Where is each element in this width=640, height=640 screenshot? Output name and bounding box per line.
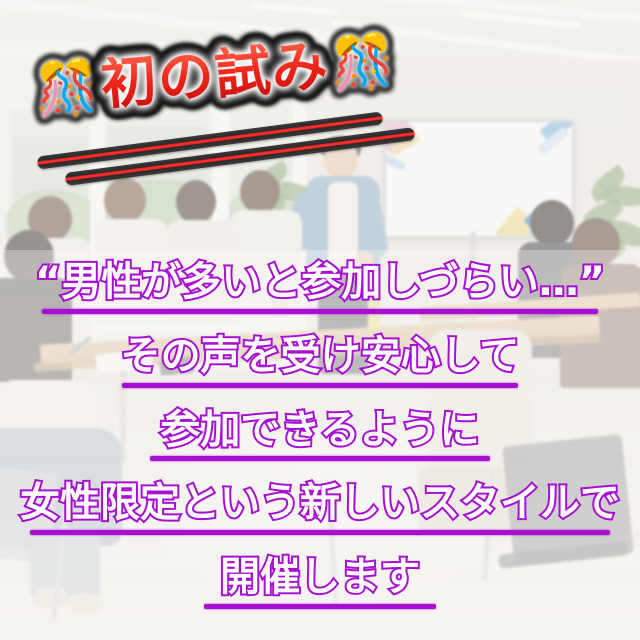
- confetti-ball-icon: 🎊: [328, 34, 397, 91]
- message-line-5: 開催します: [216, 557, 424, 604]
- message-row: 開催します: [204, 557, 436, 609]
- message-underline-1: [42, 309, 598, 314]
- message-underline-3: [150, 456, 490, 461]
- message-line-3: 参加できるように: [156, 410, 483, 457]
- message-underline-5: [204, 604, 436, 609]
- confetti-ball-icon: 🎊: [32, 60, 101, 117]
- poster-canvas: 🎊 初の試み 🎊 “男性が多いと参加しづらい…” その声を受け安心して 参加でき…: [0, 0, 640, 640]
- message-underline-4: [30, 530, 610, 535]
- message-line-2: その声を受け安心して: [117, 336, 524, 383]
- message-underline-2: [122, 383, 518, 388]
- message-row: 女性限定という新しいスタイルで: [16, 483, 624, 535]
- message-line-1: “男性が多いと参加しづらい…”: [31, 262, 609, 309]
- message-line-4: 女性限定という新しいスタイルで: [16, 483, 624, 530]
- message-row: “男性が多いと参加しづらい…”: [31, 262, 609, 314]
- message-row: 参加できるように: [150, 410, 490, 462]
- message-block: “男性が多いと参加しづらい…” その声を受け安心して 参加できるように 女性限定…: [0, 262, 640, 631]
- message-row: その声を受け安心して: [117, 336, 524, 388]
